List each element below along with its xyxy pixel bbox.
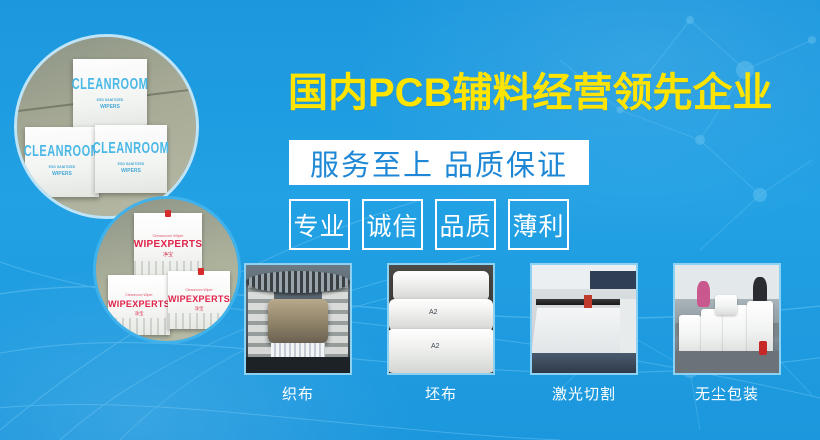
- machine-side-panel: [620, 299, 636, 361]
- fabric-roll: [387, 329, 495, 373]
- cleanroom-package: CLEANROOM ESD SANITIZED WIPERS: [95, 125, 167, 193]
- package-sub-line-2: WIPERS: [100, 104, 120, 110]
- feature-tag-quality: 品质: [435, 199, 496, 250]
- wipexperts-package: Cleanroom Wiper WIPEXPERTS 净宝: [168, 271, 230, 329]
- subtitle-bar: 服务至上 品质保证: [289, 140, 589, 185]
- package-sub-line-2: WIPERS: [52, 171, 72, 177]
- subtitle-text: 服务至上 品质保证: [310, 142, 568, 184]
- package-brand-label: CLEANROOM: [72, 77, 149, 93]
- thumbnail-frame: [244, 263, 352, 375]
- promotional-banner: CLEANROOM ESD SANITIZED WIPERS CLEANROOM…: [0, 0, 820, 440]
- feature-tag-integrity: 诚信: [362, 199, 423, 250]
- fabric-roll: [393, 271, 489, 301]
- package-brand-label: WIPEXPERTS: [108, 300, 170, 309]
- package-ridges: [168, 313, 230, 329]
- package-red-tab: [198, 268, 204, 275]
- process-thumbnail-weaving: 织布: [244, 263, 352, 404]
- package-mark: 净宝: [135, 312, 144, 317]
- laser-cutting-machine-photo: [532, 265, 636, 373]
- package-mark: 净宝: [163, 253, 173, 258]
- cleanroom-package: CLEANROOM ESD SANITIZED WIPERS: [73, 59, 147, 131]
- cleanroom-packing-workers-photo: [675, 265, 779, 373]
- package-brand-label: CLEANROOM: [93, 141, 170, 157]
- greige-fabric-rolls-photo: A2 A2: [389, 265, 493, 373]
- package-sub-line-1: ESD SANITIZED: [118, 162, 145, 166]
- package-mark: 净宝: [195, 307, 204, 312]
- wall-panel: [590, 271, 636, 289]
- fabric-roll: [389, 299, 493, 331]
- wipe-bundle: [701, 309, 725, 357]
- cleanroom-wipes-packages-photo: CLEANROOM ESD SANITIZED WIPERS CLEANROOM…: [17, 37, 196, 216]
- package-brand-label: CLEANROOM: [24, 144, 101, 160]
- machine-base: [246, 357, 350, 373]
- package-brand-label: WIPEXPERTS: [168, 295, 230, 304]
- package-top-line: Cleanroom Wiper: [125, 294, 152, 298]
- red-bin: [759, 341, 767, 355]
- feature-tag-low-margin: 薄利: [508, 199, 569, 250]
- machine-body: [532, 353, 636, 373]
- roll-handwriting: A2: [429, 309, 438, 316]
- package-brand-label: WIPEXPERTS: [134, 240, 203, 250]
- wipexperts-photo-circle: Cleanroom Wiper WIPEXPERTS 净宝 Cleanroom …: [93, 196, 241, 344]
- package-top-line: Cleanroom Wiper: [185, 289, 212, 293]
- wipexperts-package: Cleanroom Wiper WIPEXPERTS 净宝: [134, 213, 202, 279]
- cleanroom-package: CLEANROOM ESD SANITIZED WIPERS: [25, 127, 99, 197]
- thumbnail-caption: 激光切割: [530, 383, 638, 404]
- package-sub-line-1: ESD SANITIZED: [97, 98, 124, 102]
- process-thumbnail-row: 织布 A2 A2 坯布: [244, 263, 812, 404]
- process-thumbnail-cleanroom-packing: 无尘包装: [673, 263, 781, 404]
- package-sub-line-1: ESD SANITIZED: [49, 165, 76, 169]
- wipexperts-packages-photo: Cleanroom Wiper WIPEXPERTS 净宝 Cleanroom …: [96, 199, 238, 341]
- feature-tag-professional: 专业: [289, 199, 350, 250]
- banner-headline: 国内PCB辅料经营领先企业: [288, 72, 772, 114]
- package-ridges: [108, 318, 170, 335]
- package-red-tab: [165, 210, 171, 217]
- worker-figure: [697, 281, 710, 307]
- cleanroom-wipes-photo-circle: CLEANROOM ESD SANITIZED WIPERS CLEANROOM…: [14, 34, 199, 219]
- package-sub-line-2: WIPERS: [121, 168, 141, 174]
- laser-head: [584, 295, 592, 308]
- process-thumbnail-greige-fabric: A2 A2 坯布: [387, 263, 495, 404]
- circular-knitting-machine-photo: [246, 265, 350, 373]
- package-top-line: Cleanroom Wiper: [152, 234, 183, 238]
- thumbnail-caption: 织布: [244, 383, 352, 404]
- thumbnail-frame: [673, 263, 781, 375]
- roll-handwriting: A2: [431, 343, 440, 350]
- wipexperts-package: Cleanroom Wiper WIPEXPERTS 净宝: [108, 275, 170, 335]
- machine-needle-ring: [246, 271, 350, 293]
- machine-drum: [268, 299, 328, 343]
- thumbnail-caption: 坯布: [387, 383, 495, 404]
- thumbnail-frame: [530, 263, 638, 375]
- feature-tag-list: 专业 诚信 品质 薄利: [289, 199, 569, 250]
- thumbnail-frame: A2 A2: [387, 263, 495, 375]
- thumbnail-caption: 无尘包装: [673, 383, 781, 404]
- wipe-bundle: [715, 295, 737, 315]
- process-thumbnail-laser-cutting: 激光切割: [530, 263, 638, 404]
